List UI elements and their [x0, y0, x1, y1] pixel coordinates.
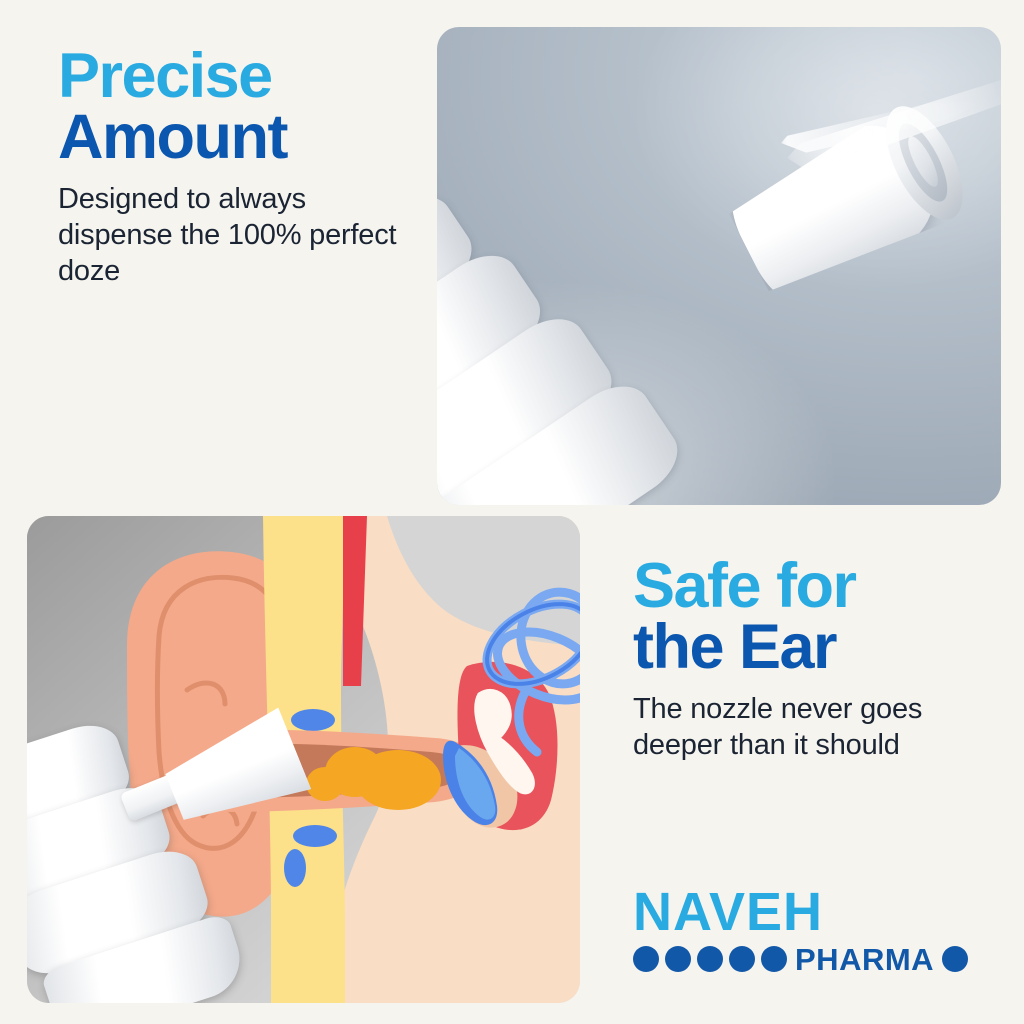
vessel-dot	[284, 849, 306, 887]
logo-brand-name: NAVEH	[633, 888, 933, 937]
logo-dot-icon	[942, 946, 968, 972]
logo-dot-icon	[761, 946, 787, 972]
ossicle-head	[475, 690, 503, 718]
logo-dot-icon	[665, 946, 691, 972]
safe-heading-line1: Safe for	[633, 556, 963, 617]
product-infographic: Precise Amount Designed to always dispen…	[0, 0, 1024, 1024]
vessel-dot	[291, 709, 335, 731]
earwax-blob	[306, 767, 344, 801]
safe-heading-line2: the Ear	[633, 617, 963, 678]
ear-anatomy-illustration	[27, 516, 580, 1003]
precise-subtext: Designed to always dispense the 100% per…	[58, 182, 428, 290]
feature-text-safe-for-the-ear: Safe for the Ear The nozzle never goes d…	[633, 556, 963, 764]
feature-text-precise-amount: Precise Amount Designed to always dispen…	[58, 46, 428, 290]
logo-sub-brand: PHARMA	[795, 944, 934, 975]
precise-heading-line1: Precise	[58, 46, 428, 107]
vessel-dot	[293, 825, 337, 847]
precise-heading-line2: Amount	[58, 107, 428, 168]
spray-nozzle-photo	[437, 27, 1001, 505]
brand-logo: NAVEH PHARMA	[633, 888, 933, 975]
logo-pharma-row: PHARMA	[633, 944, 933, 975]
logo-dot-icon	[633, 946, 659, 972]
earwax-blob	[355, 750, 441, 810]
safe-subtext: The nozzle never goes deeper than it sho…	[633, 692, 963, 764]
ear-spray-bottle	[27, 692, 273, 1003]
logo-dot-icon	[697, 946, 723, 972]
logo-dot-icon	[729, 946, 755, 972]
